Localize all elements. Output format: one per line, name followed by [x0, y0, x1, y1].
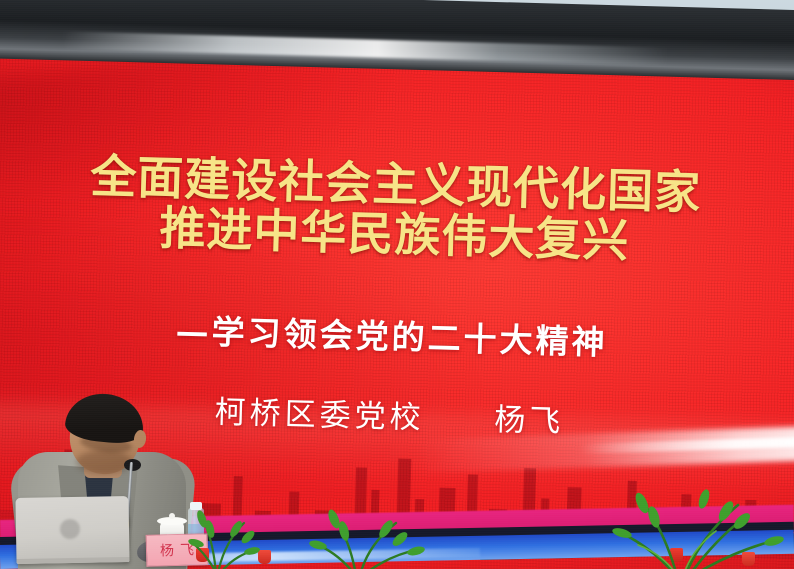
plant-foliage-left — [188, 503, 308, 569]
byline-gap — [438, 429, 480, 430]
plant-foliage-center — [300, 495, 450, 569]
laptop — [15, 496, 129, 564]
plant-foliage-right — [608, 459, 794, 569]
photo-scene: 全面建设社会主义现代化国家 推进中华民族伟大复兴 —学习领会党的二十大精神 柯桥… — [0, 0, 794, 569]
teacup-knob — [169, 513, 175, 519]
speaker-ear — [133, 429, 147, 448]
laptop-logo-icon — [60, 519, 80, 539]
slide-organization: 柯桥区委党校 — [214, 394, 425, 436]
bezel-reflection — [62, 31, 667, 66]
